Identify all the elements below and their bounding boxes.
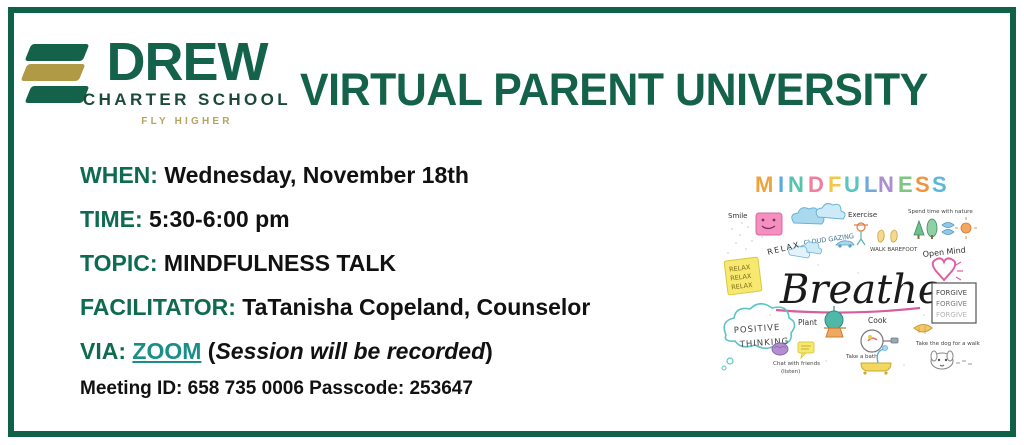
detail-value-when: Wednesday, November 18th <box>164 162 469 188</box>
svg-text:E: E <box>898 172 915 197</box>
logo-bar-middle <box>21 64 86 81</box>
mindfulness-poster-image: M I N D F U L N E S S Smile <box>718 165 990 377</box>
svg-text:Take the dog for a walk: Take the dog for a walk <box>915 341 981 347</box>
logo-wordmark: DREW CHARTER SCHOOL FLY HIGHER <box>82 36 292 130</box>
svg-text:Smile: Smile <box>728 212 747 220</box>
svg-text:Cook: Cook <box>868 316 887 325</box>
svg-text:S: S <box>915 172 932 197</box>
detail-label-facilitator: FACILITATOR: <box>80 294 236 320</box>
detail-label-when: WHEN: <box>80 162 158 188</box>
detail-label-via: VIA: <box>80 338 126 364</box>
svg-text:N: N <box>788 172 806 197</box>
logo-tagline: FLY HIGHER <box>82 114 292 130</box>
svg-text:F: F <box>828 172 844 197</box>
svg-text:Exercise: Exercise <box>848 211 877 219</box>
svg-text:FORGIVE: FORGIVE <box>936 311 967 319</box>
detail-row-when: WHEN: Wednesday, November 18th <box>80 163 700 187</box>
detail-row-time: TIME: 5:30-6:00 pm <box>80 207 700 231</box>
svg-text:Plant: Plant <box>798 318 817 327</box>
detail-value-topic: MINDFULNESS TALK <box>164 250 396 276</box>
logo-subtitle: CHARTER SCHOOL <box>82 89 292 111</box>
event-details: WHEN: Wednesday, November 18th TIME: 5:3… <box>80 163 700 401</box>
svg-text:Spend time with nature: Spend time with nature <box>908 209 973 215</box>
svg-text:N: N <box>878 172 896 197</box>
flyer-canvas: DREW CHARTER SCHOOL FLY HIGHER VIRTUAL P… <box>0 0 1024 445</box>
detail-row-topic: TOPIC: MINDFULNESS TALK <box>80 251 700 275</box>
flyer-header: DREW CHARTER SCHOOL FLY HIGHER VIRTUAL P… <box>0 22 1024 147</box>
logo-bar-bottom <box>25 86 90 103</box>
svg-text:FORGIVE: FORGIVE <box>936 289 967 297</box>
logo-name: DREW <box>82 36 292 88</box>
detail-row-facilitator: FACILITATOR: TaTanisha Copeland, Counsel… <box>80 295 700 319</box>
recording-note-close: ) <box>485 338 493 364</box>
detail-row-via: VIA: ZOOM (Session will be recorded) <box>80 339 700 363</box>
detail-value-time: 5:30-6:00 pm <box>149 206 290 232</box>
svg-text:D: D <box>808 172 826 197</box>
detail-label-topic: TOPIC: <box>80 250 158 276</box>
detail-value-facilitator: TaTanisha Copeland, Counselor <box>242 294 590 320</box>
svg-text:Take a bath: Take a bath <box>845 354 878 360</box>
recording-note: Session will be recorded <box>215 338 485 364</box>
svg-text:WALK BAREFOOT: WALK BAREFOOT <box>870 247 918 253</box>
svg-text:M: M <box>755 172 776 197</box>
zoom-link[interactable]: ZOOM <box>132 338 201 364</box>
svg-text:I: I <box>778 172 787 197</box>
svg-text:FORGIVE: FORGIVE <box>936 300 967 308</box>
svg-text:Chat with friends: Chat with friends <box>773 361 820 367</box>
svg-text:U: U <box>844 172 862 197</box>
drew-chevron-bars-icon <box>22 42 88 114</box>
svg-text:(listen): (listen) <box>781 369 800 375</box>
page-title: VIRTUAL PARENT UNIVERSITY <box>300 64 928 116</box>
svg-text:S: S <box>932 172 949 197</box>
poster-center-word: Breathe <box>779 267 942 313</box>
mindfulness-doodle-svg: M I N D F U L N E S S Smile <box>718 165 990 377</box>
logo-bar-top <box>25 44 90 61</box>
detail-label-time: TIME: <box>80 206 143 232</box>
meeting-credentials: Meeting ID: 658 735 0006 Passcode: 25364… <box>80 377 700 401</box>
poster-title: M I N D F U L N E S S <box>755 172 949 197</box>
